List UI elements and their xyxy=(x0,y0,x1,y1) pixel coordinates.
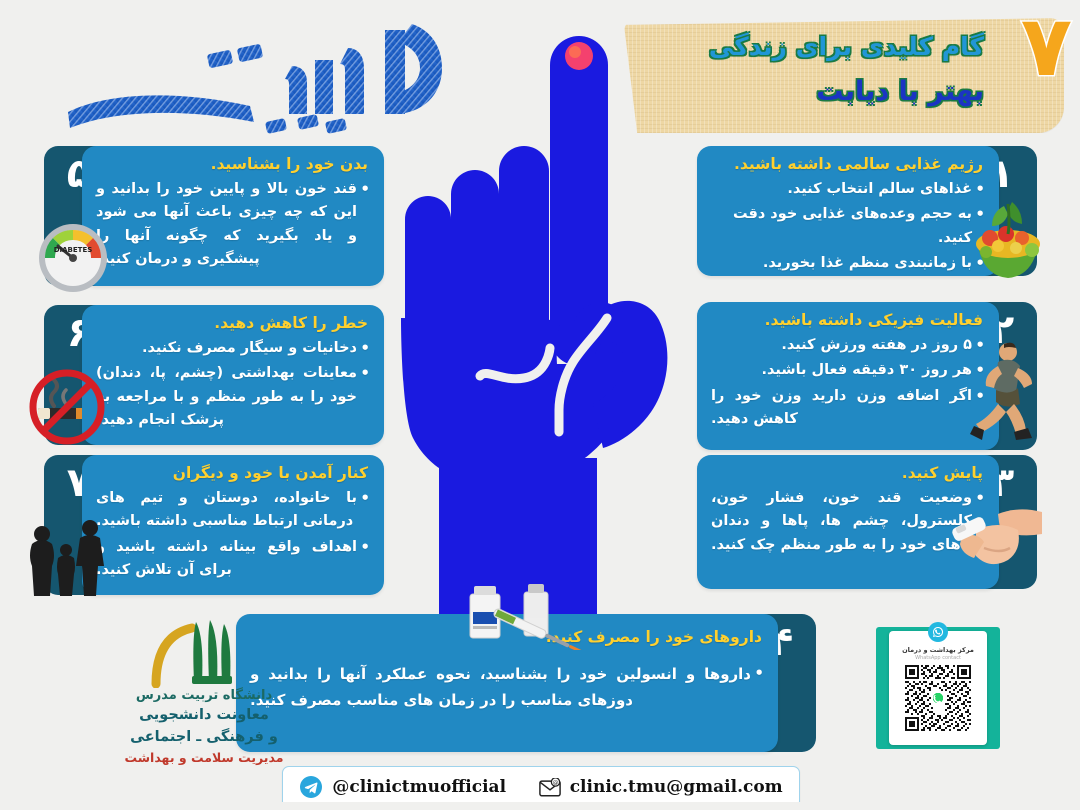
telegram-icon xyxy=(299,775,323,799)
bullet-item: با زمانبندی منظم غذا بخورید. xyxy=(711,252,985,275)
step-content: داروهای خود را مصرف کنید. داروها و انسول… xyxy=(236,614,778,752)
university-logo: دانشگاه تربیت مدرس معاونت دانشجویی و فره… xyxy=(96,618,312,770)
step-card-3[interactable]: ۳ پایش کنید. وضعیت قند خون، فشار خون، کل… xyxy=(697,455,1037,589)
step-card-6[interactable]: ۶ خطر را کاهش دهید. دخانیات و سیگار مصرف… xyxy=(44,305,384,445)
header-title-line1: گام کلیدی برای زندگی xyxy=(709,32,984,61)
bullet-item: معاینات بهداشتی (چشم، پا، دندان) خود را … xyxy=(96,362,370,432)
step-content: خطر را کاهش دهید. دخانیات و سیگار مصرف ن… xyxy=(82,305,384,445)
bullet-item: اهداف واقع بینانه داشته باشید و برای آن … xyxy=(96,536,370,583)
step-content: فعالیت فیزیکی داشته باشید. ۵ روز در هفته… xyxy=(697,302,999,450)
bullet-item: دخانیات و سیگار مصرف نکنید. xyxy=(96,337,370,360)
bullet-item: غذاهای سالم انتخاب کنید. xyxy=(711,178,985,201)
whatsapp-badge-icon xyxy=(928,622,948,642)
telegram-contact[interactable]: @clinictmuofficial xyxy=(299,775,506,799)
pointing-hand-illustration xyxy=(395,18,725,618)
step-content: رژیم غذایی سالمی داشته باشید. غذاهای سال… xyxy=(697,146,999,276)
step-title: بدن خود را بشناسید. xyxy=(82,146,384,176)
step-card-7[interactable]: ۷ کنار آمدن با خود و دیگران با خانواده، … xyxy=(44,455,384,595)
step-title: خطر را کاهش دهید. xyxy=(82,305,384,335)
logo-department-line2: و فرهنگی ـ اجتماعی xyxy=(96,728,312,747)
logo-university-name: دانشگاه تربیت مدرس xyxy=(96,688,312,703)
header-number: ۷ xyxy=(1021,4,1072,88)
telegram-handle: @clinictmuofficial xyxy=(332,777,506,797)
step-title: پایش کنید. xyxy=(697,455,999,485)
qr-inner: مرکز بهداشت و درمان WhatsApp contact xyxy=(889,631,987,745)
bullet-item: قند خون بالا و پایین خود را بدانید و این… xyxy=(96,178,370,272)
step-content: پایش کنید. وضعیت قند خون، فشار خون، کلست… xyxy=(697,455,999,589)
qr-title: مرکز بهداشت و درمان xyxy=(902,646,974,654)
email-address: clinic.tmu@gmail.com xyxy=(570,777,783,797)
step-title: فعالیت فیزیکی داشته باشید. xyxy=(697,302,999,332)
step-content: کنار آمدن با خود و دیگران با خانواده، دو… xyxy=(82,455,384,595)
step-card-4[interactable]: ۴ داروهای خود را مصرف کنید. داروها و انس… xyxy=(236,614,816,752)
bullet-item: با خانواده، دوستان و تیم های درمانی ارتب… xyxy=(96,487,370,534)
qr-code-image[interactable] xyxy=(905,665,971,731)
header-title-line2: بهتر با دیابت xyxy=(816,76,984,107)
step-title: داروهای خود را مصرف کنید. xyxy=(236,614,778,649)
step-bullets: با خانواده، دوستان و تیم های درمانی ارتب… xyxy=(82,485,384,593)
bullet-item: هر روز ۳۰ دقیقه فعال باشید. xyxy=(711,359,985,382)
step-bullets: قند خون بالا و پایین خود را بدانید و این… xyxy=(82,176,384,282)
step-bullets: ۵ روز در هفته ورزش کنید. هر روز ۳۰ دقیقه… xyxy=(697,332,999,442)
bullet-item: اگر اضافه وزن دارید وزن خود را کاهش دهید… xyxy=(711,385,985,432)
bullet-item: داروها و انسولین خود را بشناسید، نحوه عم… xyxy=(250,661,764,714)
step-bullets: دخانیات و سیگار مصرف نکنید. معاینات بهدا… xyxy=(82,335,384,443)
step-bullets: داروها و انسولین خود را بشناسید، نحوه عم… xyxy=(236,649,778,724)
step-card-1[interactable]: ۱ رژیم غذایی سالمی داشته باشید. غذاهای س… xyxy=(697,146,1037,276)
bullet-item: ۵ روز در هفته ورزش کنید. xyxy=(711,334,985,357)
svg-text:@: @ xyxy=(552,779,558,785)
step-bullets: وضعیت قند خون، فشار خون، کلسترول، چشم ها… xyxy=(697,485,999,567)
logo-department-line1: معاونت دانشجویی xyxy=(96,706,312,725)
qr-subtitle: WhatsApp contact xyxy=(915,655,961,661)
logo-unit: مدیریت سلامت و بهداشت xyxy=(96,750,312,765)
bottom-strip xyxy=(0,802,1080,810)
step-card-2[interactable]: ۲ فعالیت فیزیکی داشته باشید. ۵ روز در هف… xyxy=(697,302,1037,450)
poster-canvas: ۷ گام کلیدی برای زندگی بهتر با دیابت xyxy=(0,0,1080,810)
bullet-item: وضعیت قند خون، فشار خون، کلسترول، چشم ها… xyxy=(711,487,985,557)
email-contact[interactable]: @ clinic.tmu@gmail.com xyxy=(539,777,783,797)
step-bullets: غذاهای سالم انتخاب کنید. به حجم وعده‌های… xyxy=(697,176,999,286)
step-title: رژیم غذایی سالمی داشته باشید. xyxy=(697,146,999,176)
step-title: کنار آمدن با خود و دیگران xyxy=(82,455,384,485)
bullet-item: به حجم وعده‌های غذایی خود دقت کنید. xyxy=(711,203,985,250)
qr-card[interactable]: مرکز بهداشت و درمان WhatsApp contact xyxy=(876,627,1000,749)
step-content: بدن خود را بشناسید. قند خون بالا و پایین… xyxy=(82,146,384,286)
logo-mark xyxy=(96,618,312,688)
step-card-5[interactable]: ۵ بدن خود را بشناسید. قند خون بالا و پای… xyxy=(44,146,384,286)
email-icon: @ xyxy=(539,778,561,797)
